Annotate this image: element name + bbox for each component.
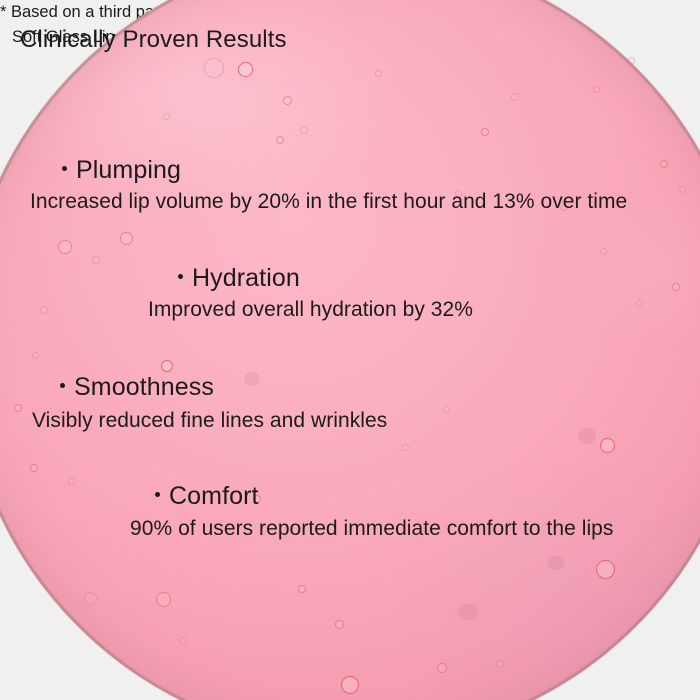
bubble-icon: [300, 126, 308, 134]
bubble-icon: [443, 406, 450, 413]
bubble-icon: [298, 585, 306, 593]
bubble-icon: [14, 404, 22, 412]
bubble-icon: [600, 438, 615, 453]
bubble-icon: [92, 256, 100, 264]
bubble-icon: [660, 160, 668, 168]
bullet-icon: [178, 274, 183, 279]
result-detail-comfort: 90% of users reported immediate comfort …: [130, 517, 613, 541]
bubble-icon: [156, 592, 171, 607]
bubble-icon: [679, 186, 686, 193]
result-heading-label: Plumping: [76, 156, 181, 184]
result-heading-label: Smoothness: [74, 373, 214, 401]
bubble-icon: [179, 637, 186, 644]
bubble-icon: [578, 428, 596, 444]
bubble-icon: [244, 372, 260, 386]
bubble-icon: [163, 113, 170, 120]
bubble-icon: [402, 444, 409, 451]
bubble-icon: [204, 58, 224, 78]
bubble-icon: [496, 660, 504, 668]
bubble-icon: [341, 676, 359, 694]
result-heading-smoothness: Smoothness: [60, 373, 214, 402]
result-detail-plumping: Increased lip volume by 20% in the first…: [30, 190, 627, 214]
bubble-icon: [120, 232, 133, 245]
bubble-icon: [458, 604, 478, 620]
bubble-icon: [600, 248, 607, 255]
result-detail-hydration: Improved overall hydration by 32%: [148, 298, 473, 322]
bubble-icon: [672, 283, 680, 291]
bubble-icon: [596, 560, 615, 579]
bubble-icon: [161, 360, 173, 372]
bubble-icon: [58, 240, 72, 254]
bubble-icon: [481, 128, 489, 136]
bubble-icon: [238, 62, 253, 77]
bubble-icon: [636, 300, 643, 307]
bubble-icon: [593, 86, 600, 93]
gel-bubbles: [0, 0, 700, 700]
bubble-icon: [437, 663, 447, 673]
bubble-icon: [511, 93, 519, 101]
bubble-icon: [30, 464, 38, 472]
bubble-icon: [32, 352, 39, 359]
bubble-icon: [548, 556, 564, 570]
bubble-icon: [375, 70, 382, 77]
result-heading-label: Comfort: [169, 482, 259, 510]
bullet-icon: [155, 492, 160, 497]
result-heading-plumping: Plumping: [62, 156, 181, 185]
result-heading-comfort: Comfort: [155, 482, 259, 511]
bullet-icon: [60, 383, 65, 388]
bubble-icon: [84, 592, 97, 605]
result-heading-label: Hydration: [192, 264, 300, 292]
bubble-icon: [283, 96, 292, 105]
bubble-icon: [628, 57, 635, 64]
bubble-icon: [276, 136, 284, 144]
bullet-icon: [62, 166, 67, 171]
bubble-icon: [335, 620, 344, 629]
product-claims-graphic: Clinically Proven Results Plumping Incre…: [0, 0, 700, 700]
result-heading-hydration: Hydration: [178, 264, 300, 293]
bubble-icon: [40, 306, 48, 314]
page-title: Clinically Proven Results: [20, 26, 287, 54]
result-detail-smoothness: Visibly reduced fine lines and wrinkles: [32, 409, 387, 433]
bubble-icon: [68, 478, 75, 485]
